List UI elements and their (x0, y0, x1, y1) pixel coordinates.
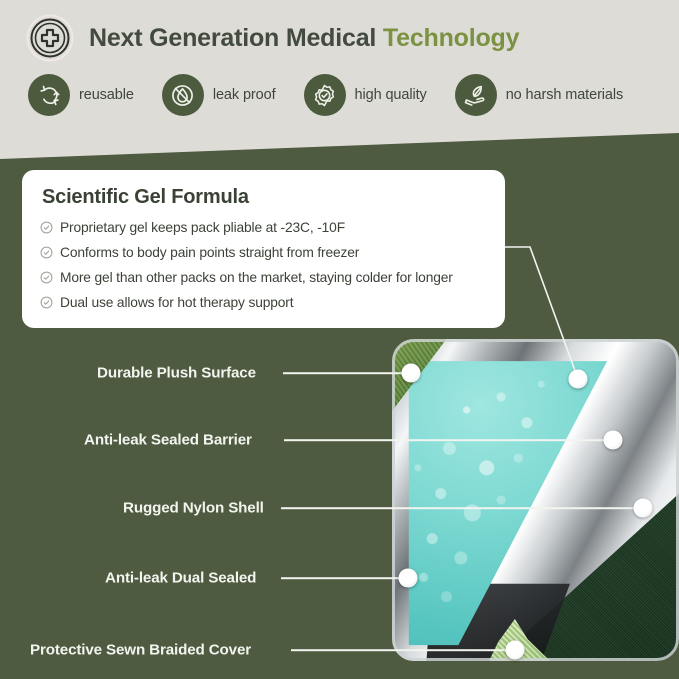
callout-leader-line (281, 577, 406, 579)
callout-label: Durable Plush Surface (97, 365, 256, 382)
bullet-text: Conforms to body pain points straight fr… (60, 244, 359, 262)
feature-leak-proof: leak proof (162, 74, 276, 116)
callout-dot[interactable] (506, 641, 525, 660)
header: Next Generation Medical Technology reusa… (0, 0, 679, 165)
circle-check-icon (40, 296, 53, 314)
scientific-gel-formula-card: Scientific Gel Formula Proprietary gel k… (22, 170, 505, 328)
bullet-item: More gel than other packs on the market,… (40, 269, 487, 289)
circle-check-icon (40, 271, 53, 289)
bullet-item: Dual use allows for hot therapy support (40, 294, 487, 314)
circle-check-icon (40, 246, 53, 264)
page-title: Next Generation Medical Technology (89, 26, 519, 51)
feature-no-harsh-materials: no harsh materials (455, 74, 623, 116)
bullet-text: Proprietary gel keeps pack pliable at -2… (60, 219, 345, 237)
hand-leaf-icon (455, 74, 497, 116)
circle-check-icon (40, 221, 53, 239)
card-title: Scientific Gel Formula (42, 186, 487, 209)
feature-label: leak proof (213, 87, 276, 103)
callout-dot[interactable] (402, 364, 421, 383)
callout-dot[interactable] (399, 569, 418, 588)
feature-high-quality: high quality (304, 74, 427, 116)
bullet-item: Proprietary gel keeps pack pliable at -2… (40, 219, 487, 239)
product-infographic: Durable Plush SurfaceAnti-leak Sealed Ba… (0, 0, 679, 679)
bullet-text: Dual use allows for hot therapy support (60, 294, 293, 312)
feature-list: reusable leak proof (28, 74, 623, 116)
droplet-no-leak-icon (162, 74, 204, 116)
callout-dot-gel[interactable] (569, 370, 588, 389)
feature-label: no harsh materials (506, 87, 623, 103)
recycle-icon (28, 74, 70, 116)
bullet-item: Conforms to body pain points straight fr… (40, 244, 487, 264)
callout-label: Anti-leak Dual Sealed (105, 570, 256, 587)
quality-badge-check-icon (304, 74, 346, 116)
feature-label: reusable (79, 87, 134, 103)
title-primary: Next Generation Medical (89, 24, 376, 52)
callout-leader-line (283, 372, 405, 374)
title-accent: Technology (383, 24, 519, 52)
feature-reusable: reusable (28, 74, 134, 116)
feature-label: high quality (355, 87, 427, 103)
callout-label: Rugged Nylon Shell (123, 500, 264, 517)
callout-dot[interactable] (604, 431, 623, 450)
bullet-list: Proprietary gel keeps pack pliable at -2… (40, 219, 487, 314)
callout-label: Protective Sewn Braided Cover (30, 642, 251, 659)
bullet-text: More gel than other packs on the market,… (60, 269, 453, 287)
callout-label: Anti-leak Sealed Barrier (84, 432, 252, 449)
medical-cross-icon (26, 14, 74, 62)
title-row: Next Generation Medical Technology (26, 14, 519, 62)
callout-dot[interactable] (634, 499, 653, 518)
